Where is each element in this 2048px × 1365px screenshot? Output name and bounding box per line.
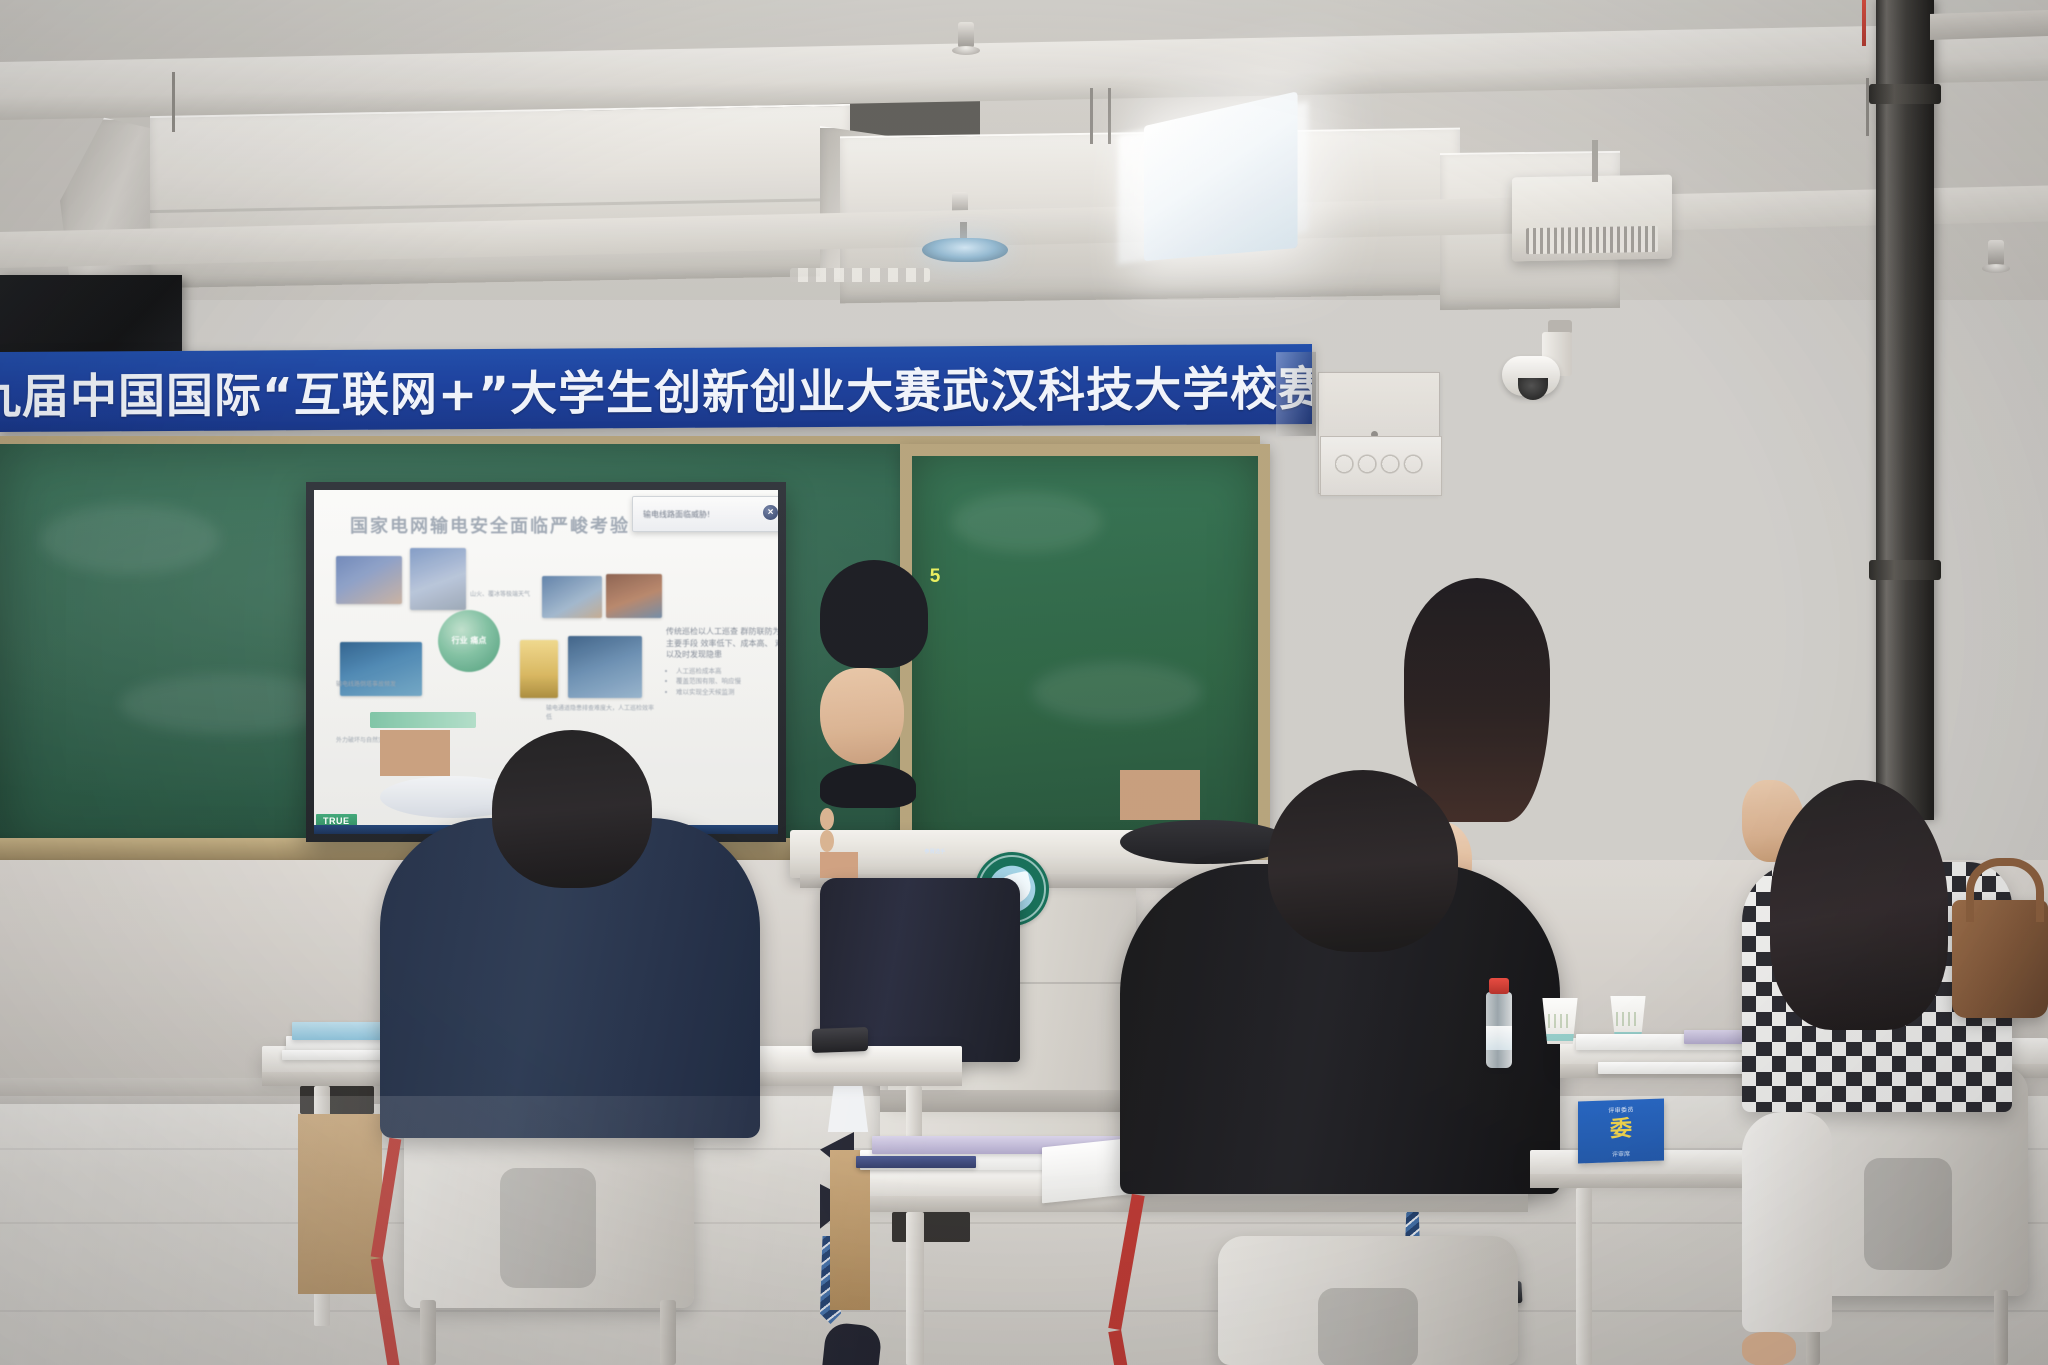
name-card-sub: 评审席 [1578, 1147, 1664, 1159]
close-icon[interactable]: × [763, 505, 778, 520]
slide-caption-3: 山火、覆冰等极端天气 [470, 590, 534, 599]
slide-title: 国家电网输电安全面临严峻考验 [350, 512, 630, 538]
classroom-competition-photo: 九届中国国际“互联网+”大学生创新创业大赛武汉科技大学校赛 国家电网输电安全面临… [0, 0, 2048, 1365]
slide-bullet-1: 人工巡检成本高 [676, 666, 778, 676]
chair-right-leg-2 [1994, 1290, 2008, 1365]
contestant-badge-sub: 参赛选手 [820, 848, 1050, 855]
desk-left-wood-panel [298, 1114, 382, 1294]
projector-mount-arm [1592, 140, 1598, 182]
slide-image-chart [520, 640, 558, 698]
slide-right-block: 传统巡检以人工巡查 群防联防为主要手段 效率低下、成本高、 难以及时发现隐患 人… [666, 626, 778, 697]
pipe-bracket [1930, 10, 2048, 40]
slide-caption-4: 输电通道隐患排查难度大，人工巡检效率低 [546, 704, 656, 722]
slide-popup-dialog[interactable]: 输电线路面临威胁! × [632, 496, 778, 532]
name-card-title: 评审委员 [1578, 1103, 1664, 1115]
slide-right-heading: 传统巡检以人工巡查 群防联防为主要手段 效率低下、成本高、 难以及时发现隐患 [666, 626, 778, 661]
slide-pain-point-label: 行业 痛点 [452, 636, 487, 646]
banner-text: 九届中国国际“互联网+”大学生创新创业大赛武汉科技大学校赛 [0, 349, 1312, 426]
slide-right-bullets: 人工巡检成本高 覆盖范围有限、响应慢 难以实现全天候监测 [666, 666, 778, 697]
slide-image-lines [568, 636, 642, 698]
paper-stack-center-3 [856, 1156, 976, 1168]
projector-vents [1526, 226, 1658, 254]
duct-hanger-1 [172, 72, 175, 132]
sprinkler-head-3 [1988, 240, 2004, 266]
desk-center-wood-panel [830, 1150, 870, 1310]
popup-message: 输电线路面临威胁! [643, 509, 710, 520]
banner-fold [1276, 352, 1316, 436]
judge-name-card: 评审委员 委 评审席 [1578, 1098, 1664, 1163]
slide-image-tower [336, 556, 402, 604]
judge-left [380, 730, 760, 1365]
lanyard-center-right [1108, 1330, 1144, 1365]
desk-right-leg [1576, 1188, 1592, 1365]
duct-hanger-3 [1108, 88, 1111, 144]
desk-center-leg [906, 1212, 924, 1365]
wall-pipe [1876, 0, 1934, 820]
slide-bullet-2: 覆盖范围有限、响应慢 [676, 676, 778, 686]
ceiling-projector [1512, 175, 1672, 262]
pipe-collar-1 [1869, 84, 1941, 104]
water-bottle-right [1486, 992, 1512, 1068]
wall-outlet-plate [1320, 436, 1442, 496]
slide-image-pylon [410, 548, 466, 610]
desk-left-bracket [300, 1086, 374, 1114]
slide-accent-bar [370, 712, 476, 728]
dome-camera-icon [1502, 350, 1574, 406]
slide-bullet-3: 难以实现全天候监测 [676, 687, 778, 697]
phone-on-desk [812, 1027, 868, 1053]
handbag [1952, 900, 2048, 1018]
desk-center-bracket [892, 1212, 970, 1242]
pipe-red-tag-top [1862, 0, 1866, 46]
slide-image-inspection [542, 576, 602, 618]
ceiling-lamp [922, 238, 1008, 262]
ceiling-light-row [790, 268, 930, 282]
event-banner: 九届中国国际“互联网+”大学生创新创业大赛武汉科技大学校赛 [0, 344, 1312, 432]
slide-caption-1: 输电线路倒塔事故频发 [336, 680, 422, 689]
sprinkler-head-2 [958, 22, 974, 48]
slide-image-fire [606, 574, 662, 618]
contestant-number: 5 [820, 567, 1050, 586]
name-card-glyph: 委 [1578, 1116, 1664, 1141]
duct-hanger-2 [1090, 88, 1093, 144]
slide-pain-point-circle: 行业 痛点 [438, 610, 500, 672]
presenter-student: 5 参赛选手 [820, 560, 1050, 860]
pipe-collar-2 [1869, 560, 1941, 580]
